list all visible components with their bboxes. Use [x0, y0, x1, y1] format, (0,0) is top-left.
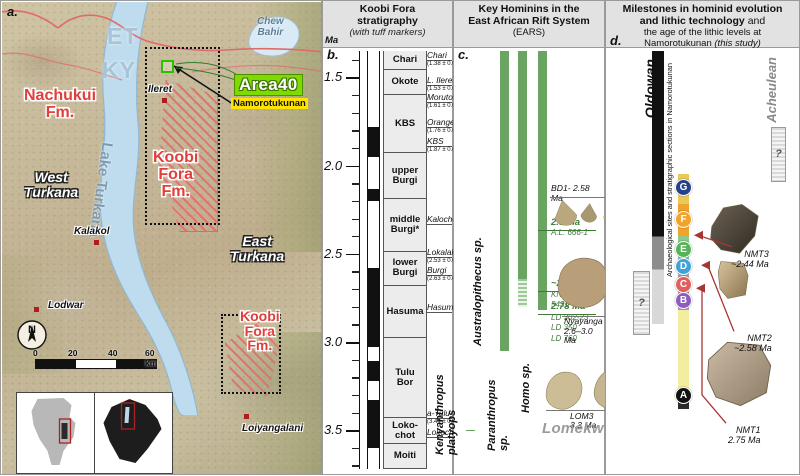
artifact-label-bd1: BD1- 2.58 Ma — [551, 184, 604, 203]
panel-d-header: Milestones in hominid evolution and lith… — [606, 1, 799, 48]
axis-unit-label: Ma — [325, 35, 338, 46]
vegetation-west — [2, 254, 62, 374]
axis-tick — [346, 254, 360, 256]
member-name: upper Burgi — [392, 166, 418, 186]
member-name: KBS — [395, 119, 415, 129]
nachukui-fm-label: Nachukui Fm. — [24, 88, 96, 122]
magnetic-polarity-band — [368, 189, 379, 201]
section-marker-f[interactable]: F — [675, 211, 692, 228]
panel-c-title: Key Hominins in the — [454, 1, 604, 16]
axis-tick — [352, 307, 360, 308]
acheulean-uncertainty-box: ? — [771, 127, 786, 182]
town-dot-kalakol — [94, 240, 99, 245]
tuff-marker-line — [426, 224, 452, 225]
taxon-label: Kenyanthropus platyops — [434, 374, 458, 455]
chew-bahir-label: Chew Bahir — [257, 16, 284, 38]
taxon-label: Paranthropus sp. — [486, 380, 510, 452]
panel-b-title: Koobi Fora — [323, 1, 452, 16]
tuff-name: Burgi — [427, 266, 446, 275]
panel-c-hominins: Key Hominins in the East African Rift Sy… — [453, 0, 605, 475]
taxon-range-uncertain — [518, 279, 527, 307]
scale-tick-40: 40 — [108, 348, 117, 358]
panel-b-subtitle: (with tuff markers) — [323, 27, 452, 38]
axis-tick — [352, 95, 360, 96]
section-column-label: Archaeological sites and stratigraphic s… — [666, 63, 675, 277]
scale-bar: 0 20 40 60 km — [35, 359, 157, 369]
axis-tick-label-3-5: 3.5 — [324, 422, 342, 437]
section-marker-c[interactable]: C — [675, 276, 692, 293]
namorotukunan-label: Namorotukunan — [231, 98, 308, 109]
tuff-name: L. Ileret — [427, 76, 455, 85]
panel-d-title: Milestones in hominid evolution — [606, 1, 799, 16]
panel-a-letter: a. — [7, 4, 18, 19]
member-cell: Loko- chot — [384, 418, 426, 444]
member-name: middle Burgi* — [390, 215, 421, 235]
member-cell: Moiti — [384, 444, 426, 469]
axis-tick — [352, 413, 360, 414]
section-segment — [678, 310, 689, 391]
axis-tick — [352, 465, 360, 466]
acheulean-label: Acheulean — [764, 57, 779, 123]
koobi-fora-fm-label-north: Koobi Fora Fm. — [153, 150, 198, 200]
magnetic-polarity-band — [368, 268, 379, 347]
town-dot-ileret — [162, 98, 167, 103]
taxon-label: Australopithecus sp. — [472, 237, 484, 346]
axis-tick — [352, 360, 360, 361]
panel-d-title2: and lithic technology — [640, 15, 745, 27]
member-cell: KBS — [384, 95, 426, 153]
axis-tick-label-2-5: 2.5 — [324, 246, 342, 261]
panel-d-title3: the age of the lithic levels at — [606, 27, 799, 38]
member-cell: Hasuma — [384, 286, 426, 339]
taxon-range-bar — [538, 51, 547, 310]
inset-kenya — [95, 393, 172, 473]
member-name: Chari — [393, 55, 417, 65]
member-cell: lower Burgi — [384, 252, 426, 286]
axis-tick — [352, 377, 360, 378]
panel-c-letter: c. — [458, 47, 469, 62]
artifact-label-nyayanga: Nyayanga 2.6–3.0 Ma — [564, 317, 604, 346]
lithic-level-nmt2-age: ~2.58 Ma — [734, 343, 772, 353]
town-dot-lodwar — [34, 307, 39, 312]
member-name: Tulu Bor — [395, 368, 414, 388]
member-cell: upper Burgi — [384, 153, 426, 199]
section-marker-d[interactable]: D — [675, 258, 692, 275]
magnetic-polarity-band — [368, 400, 379, 448]
panel-d-title4-tail: (this study) — [714, 38, 760, 49]
magnetostratigraphy-strip — [367, 51, 380, 469]
panel-b-header: Koobi Fora stratigraphy (with tuff marke… — [323, 1, 452, 48]
lithic-level-nmt1-age: 2.75 Ma — [728, 435, 761, 445]
panel-c-subtitle: (EARS) — [454, 27, 604, 38]
axis-tick — [346, 77, 360, 79]
axis-tick — [352, 324, 360, 325]
town-label-ileret: Ileret — [148, 84, 172, 95]
taxon-label: Homo sp. — [520, 362, 532, 412]
oldowan-label: Oldowan — [642, 59, 658, 118]
axis-tick — [352, 289, 360, 290]
lithic-level-nmt2-name: NMT2 — [734, 333, 772, 343]
panel-d-title2-tail: and — [745, 15, 765, 27]
member-column: ChariOkoteKBSupper Burgimiddle Burgi*low… — [383, 51, 427, 469]
taxon-range-bar — [466, 430, 475, 431]
axis-tick — [352, 271, 360, 272]
axis-tick — [352, 236, 360, 237]
satellite-map: Area40 Namorotukunan ET KY Nachukui Fm. … — [2, 2, 322, 475]
axis-tick-label-2-0: 2.0 — [324, 158, 342, 173]
axis-tick — [352, 113, 360, 114]
panel-d-letter: d. — [610, 33, 622, 48]
magnetic-polarity-band — [368, 127, 379, 157]
member-name: Loko- chot — [392, 421, 418, 441]
scale-tick-60: 60 km — [145, 348, 157, 368]
west-turkana-label: West Turkana — [24, 170, 78, 199]
tuff-name: KBS — [427, 137, 444, 146]
member-name: Hasuma — [387, 307, 424, 317]
north-arrow-icon: N — [17, 320, 47, 350]
axis-tick — [352, 183, 360, 184]
scale-tick-0: 0 — [33, 348, 38, 358]
axis-tick — [352, 448, 360, 449]
member-cell: Okote — [384, 70, 426, 95]
town-label-lodwar: Lodwar — [48, 300, 84, 311]
town-dot-loiyangalani — [244, 414, 249, 419]
lithic-level-nmt1-name: NMT1 — [728, 425, 761, 435]
member-name: Moiti — [394, 451, 416, 461]
axis-tick — [346, 342, 360, 344]
tuff-name: Morutot — [427, 93, 455, 102]
koobi-fora-fm-label-south: Koobi Fora Fm. — [240, 309, 280, 353]
lithic-level-nmt3-name: NMT3 — [731, 249, 769, 259]
section-marker-e[interactable]: E — [675, 241, 692, 258]
axis-tick — [352, 219, 360, 220]
panel-c-title2: East African Rift System — [454, 16, 604, 28]
inset-locator-maps — [16, 392, 173, 474]
axis-tick-label-3-0: 3.0 — [324, 334, 342, 349]
taxon-range-bar — [518, 51, 527, 279]
tuff-name: Orange — [427, 118, 455, 127]
axis-tick — [352, 148, 360, 149]
member-name: Okote — [392, 77, 419, 87]
scale-tick-20: 20 — [68, 348, 77, 358]
svg-text:N: N — [28, 324, 36, 336]
town-label-loiyangalani: Loiyangalani — [242, 423, 303, 434]
tuff-name: Chari — [427, 51, 447, 60]
time-axis: Ma 1.52.02.53.03.5 — [333, 51, 361, 469]
axis-tick — [352, 201, 360, 202]
inset-africa — [17, 393, 95, 473]
member-cell: Tulu Bor — [384, 338, 426, 417]
panel-d-title4: Namorotukunan — [644, 38, 712, 49]
lithic-level-nmt3-age: ~2.44 Ma — [731, 259, 769, 269]
panel-c-header: Key Hominins in the East African Rift Sy… — [454, 1, 604, 48]
lithic-level-nmt2: NMT2~2.58 Ma — [734, 333, 772, 353]
panel-d-title2-line: and lithic technology and — [606, 16, 799, 28]
axis-tick — [346, 430, 360, 432]
tuff-marker-line — [426, 312, 452, 313]
oldowan-uncertainty-box: ? — [633, 271, 650, 335]
area40-label: Area40 — [234, 74, 303, 96]
axis-tick-label-1-5: 1.5 — [324, 69, 342, 84]
axis-tick — [352, 395, 360, 396]
panel-d-milestones: Milestones in hominid evolution and lith… — [605, 0, 800, 475]
magnetic-polarity-band — [368, 361, 379, 380]
member-cell: middle Burgi* — [384, 199, 426, 252]
member-name: lower Burgi — [393, 258, 418, 278]
lithic-level-nmt3: NMT3~2.44 Ma — [731, 249, 769, 269]
panel-d-title4-line: Namorotukunan (this study) — [606, 38, 799, 49]
town-label-kalakol: Kalakol — [74, 226, 110, 237]
figure-root: Area40 Namorotukunan ET KY Nachukui Fm. … — [0, 0, 800, 475]
section-marker-g[interactable]: G — [675, 179, 692, 196]
axis-tick — [352, 60, 360, 61]
panel-b-title2: stratigraphy — [323, 16, 452, 28]
east-turkana-label: East Turkana — [230, 234, 284, 263]
section-marker-b[interactable]: B — [675, 292, 692, 309]
taxon-range-bar — [500, 51, 509, 351]
section-marker-a[interactable]: A — [675, 387, 692, 404]
country-code-et: ET — [107, 24, 138, 48]
panel-a-map: Area40 Namorotukunan ET KY Nachukui Fm. … — [0, 0, 322, 475]
lithic-level-nmt1: NMT12.75 Ma — [728, 425, 761, 445]
member-cell: Chari — [384, 51, 426, 70]
axis-tick — [346, 166, 360, 168]
axis-tick — [352, 130, 360, 131]
country-code-ky: KY — [102, 58, 136, 82]
